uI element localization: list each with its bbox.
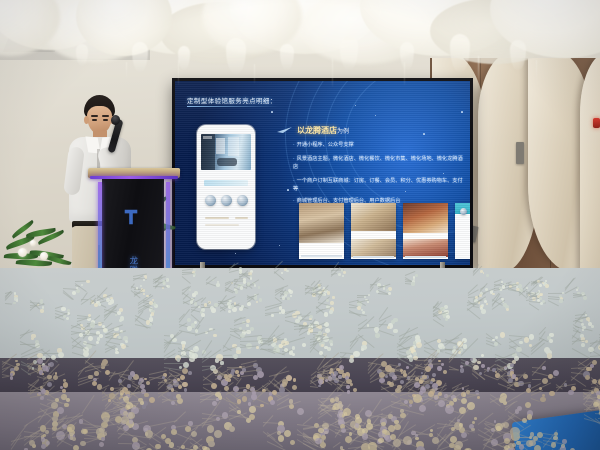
phone-app-icon [221, 195, 232, 206]
slide-bullet: ·风景酒店主题，微化酒店、微化餐饮、微化市集、微化场地、微化龙腾酒店 [293, 155, 463, 171]
white-flower [30, 240, 36, 246]
stage-surface [0, 268, 600, 360]
blue-stage-prop [512, 410, 600, 450]
slide-bullet-text: 风景酒店主题，微化酒店、微化餐饮、微化市集、微化场地、微化龙腾酒店 [293, 156, 463, 170]
presenter-ear [84, 116, 89, 124]
white-flower [18, 248, 27, 257]
white-flower [40, 252, 48, 260]
slide-panel-banquet-hall [403, 203, 448, 259]
slide-panel-mini-program [455, 203, 470, 259]
hotel-logo-icon [122, 208, 140, 226]
stage-riser [0, 358, 600, 394]
slide-title-underline [187, 106, 279, 107]
exit-sign-icon [593, 118, 600, 128]
slide-heading: 以龙腾酒店为例 [297, 125, 349, 136]
slide-title: 定制型体验馆服务亮点明细： [187, 95, 277, 105]
cloud-ceiling-installation [0, 0, 600, 87]
slide-bullet-text: 开通小程序、公众号支撑 [297, 142, 354, 148]
led-video-wall: 定制型体验馆服务亮点明细： 以龙腾酒店为例 ·开通小程序、公众号支撑 ·风景酒店… [172, 78, 473, 268]
wave-panel [580, 58, 600, 268]
presentation-photo-scene: 定制型体验馆服务亮点明细： 以龙腾酒店为例 ·开通小程序、公众号支撑 ·风景酒店… [0, 0, 600, 450]
slide-panel-guest-room [299, 203, 344, 259]
phone-mockup [197, 125, 255, 249]
slide-panel-lobby [351, 203, 396, 259]
floor-carpet [0, 392, 600, 450]
phone-app-icon [205, 195, 216, 206]
led-screen-surface: 定制型体验馆服务亮点明细： 以龙腾酒店为例 ·开通小程序、公众号支撑 ·风景酒店… [175, 81, 470, 265]
phone-hero-image [201, 134, 251, 170]
slide-heading-tail: 为例 [337, 128, 349, 135]
phone-app-icon [237, 195, 248, 206]
slide-bullet: ·一个商户订制互联商城：订房、订餐、会员、积分、优惠券购物车、支付等 [293, 177, 463, 193]
phone-search-bar [204, 180, 248, 186]
slide-heading-main: 以龙腾酒店 [297, 126, 337, 135]
presenter-face [87, 106, 112, 134]
wall-fixture [516, 142, 524, 164]
arrow-icon [275, 126, 293, 134]
slide-bullet: ·开通小程序、公众号支撑 [293, 141, 463, 149]
slide-bullet-text: 一个商户订制互联商城：订房、订餐、会员、积分、优惠券购物车、支付等 [293, 178, 463, 192]
